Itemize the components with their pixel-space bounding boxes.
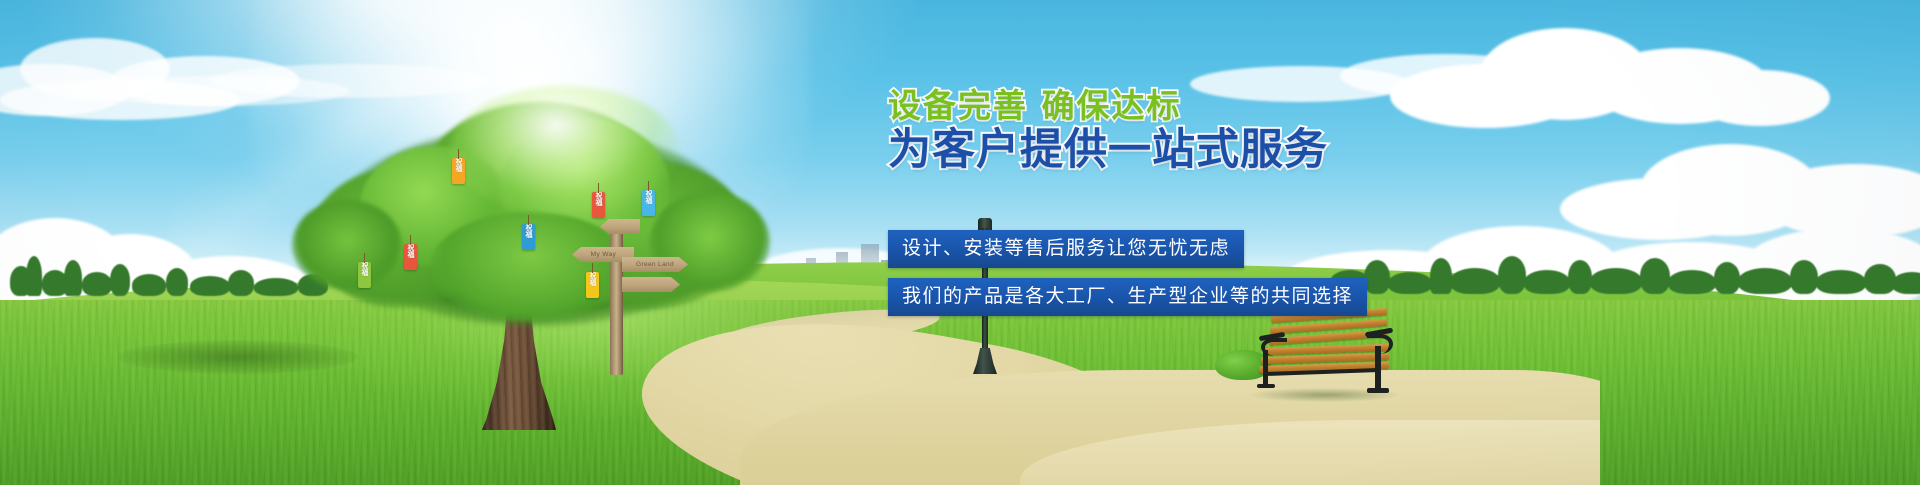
signpost-arm-green-land: Green Land (622, 257, 688, 272)
wish-tag: 祝福 (452, 158, 465, 184)
signpost: My Way Green Land (596, 225, 716, 375)
signpost-arm-blank (622, 277, 680, 292)
headline-secondary: 为客户提供一站式服务 (888, 124, 1588, 176)
bench-scroll-left (1261, 338, 1287, 356)
subtitle-bar-2-wrap: 我们的产品是各大工厂、生产型企业等的共同选择 (888, 278, 1367, 316)
wish-tag: 祝福 (404, 244, 417, 270)
subtitle-bar-2: 我们的产品是各大工厂、生产型企业等的共同选择 (888, 278, 1367, 316)
wish-tag-label: 祝福 (358, 262, 371, 276)
hero-banner: 祝福 祝福 祝福 祝福 祝福 祝福 祝福 My Way Green Land (0, 0, 1920, 485)
wish-tag-label: 祝福 (592, 192, 605, 206)
wish-tag: 祝福 (592, 192, 605, 218)
wish-tag: 祝福 (522, 224, 535, 250)
wish-tag-label: 祝福 (522, 224, 535, 238)
wish-tag: 祝福 (358, 262, 371, 288)
bench-leg-right-foot (1367, 388, 1389, 393)
treeline-right (1330, 248, 1920, 294)
wish-tag-label: 祝福 (404, 244, 417, 258)
headline-primary: 设备完善 确保达标 (888, 86, 1588, 126)
wish-tag: 祝福 (642, 190, 655, 216)
tree-canopy-edge-left (292, 200, 402, 290)
banner-text-block: 设备完善 确保达标 为客户提供一站式服务 (888, 86, 1588, 176)
signpost-label-green-land: Green Land (636, 261, 674, 268)
wish-tag-label: 祝福 (452, 158, 465, 172)
lamppost-base (973, 348, 997, 374)
wish-tag-label: 祝福 (642, 190, 655, 204)
signpost-label-my-way: My Way (590, 251, 615, 258)
subtitle-bar-1: 设计、安装等售后服务让您无忧无虑 (888, 230, 1244, 268)
park-bench (1255, 310, 1395, 395)
bench-leg-left-foot (1257, 384, 1275, 388)
subtitle-bar-1-wrap: 设计、安装等售后服务让您无忧无虑 (888, 230, 1244, 268)
bench-leg-left (1263, 350, 1268, 386)
bench-scroll-right (1367, 334, 1393, 354)
